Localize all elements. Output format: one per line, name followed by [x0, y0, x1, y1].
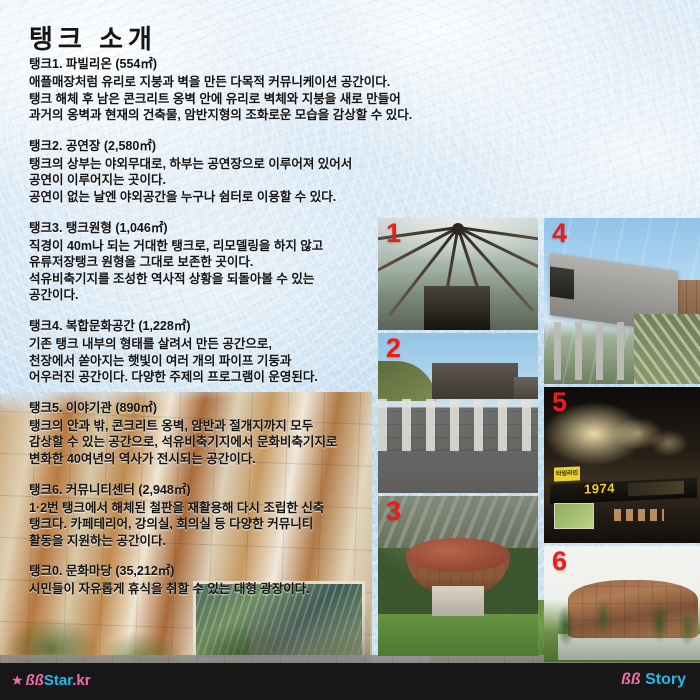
photo-5-site-map: [554, 503, 594, 529]
tank-line: 기존 탱크 내부의 형태를 살려서 만든 공간으로,: [29, 336, 381, 353]
photo-1-pavilion[interactable]: 1: [378, 218, 538, 330]
photo-3-tank-roof: [406, 538, 510, 572]
brand-bb-text: ßß: [26, 672, 44, 689]
photo-5-story-hall[interactable]: 타임라인 1974 5: [544, 387, 700, 543]
tank-heading: 탱크3. 탱크원형 (1,046㎡): [29, 220, 381, 237]
tank-heading: 탱크5. 이야기관 (890㎡): [29, 400, 381, 417]
photo-number-label: 1: [386, 220, 401, 247]
photo-4-cultural-complex[interactable]: 4: [544, 218, 700, 384]
tank-block-6: 탱크6. 커뮤니티센터 (2,948㎡) 1·2번 탱크에서 해체된 철판을 재…: [29, 482, 381, 550]
photo-6-community-center[interactable]: 6: [544, 546, 700, 662]
tank-line: 과거의 옹벽과 현재의 건축물, 암반지형의 조화로운 모습을 감상할 수 있다…: [29, 107, 381, 124]
tank-line: 천장에서 쏟아지는 햇빛이 여러 개의 파이프 기둥과: [29, 353, 381, 370]
photo-2-stage-wall: [432, 363, 518, 399]
photo-number-label: 5: [552, 389, 567, 416]
photo-4-rock-scree: [634, 314, 700, 384]
tank-heading: 탱크1. 파빌리온 (554㎡): [29, 56, 381, 73]
photo-3-lawn: [378, 614, 538, 656]
photo-5-info-panel: [628, 481, 684, 496]
photo-4-beam-opening: [550, 266, 574, 299]
tank-line: 공연이 이루어지는 곳이다.: [29, 172, 381, 189]
tank-line: 탱크다. 카페테리어, 강의실, 회의실 등 다양한 커뮤니티: [29, 516, 381, 533]
tank-heading: 탱크2. 공연장 (2,580㎡): [29, 138, 381, 155]
photo-5-photo-thumbnails: [614, 509, 664, 521]
tank-block-2: 탱크2. 공연장 (2,580㎡) 탱크의 상부는 야외무대로, 하부는 공연장…: [29, 138, 381, 206]
page-root: 탱크 소개 탱크1. 파빌리온 (554㎡) 애플매장처럼 유리로 지붕과 벽을…: [0, 0, 700, 700]
photo-1-hub: [452, 223, 464, 235]
photo-2-stone-seats: [378, 399, 538, 451]
tank-line: 변화한 40여년의 역사가 전시되는 공간이다.: [29, 451, 381, 468]
tank-line: 감상할 수 있는 공간으로, 석유비축기지에서 문화비축기지로: [29, 434, 381, 451]
tank-heading: 탱크6. 커뮤니티센터 (2,948㎡): [29, 482, 381, 499]
tank-block-4: 탱크4. 복합문화공간 (1,228㎡) 기존 탱크 내부의 형태를 살려서 만…: [29, 318, 381, 386]
tank-block-1: 탱크1. 파빌리온 (554㎡) 애플매장처럼 유리로 지붕과 벽을 만든 다목…: [29, 56, 381, 124]
page-title: 탱크 소개: [29, 19, 157, 56]
brand-logo-left[interactable]: ★ßßStar.kr: [11, 672, 91, 689]
photo-3-entrance-ramp: [432, 586, 484, 616]
tank-block-5: 탱크5. 이야기관 (890㎡) 탱크의 안과 밖, 콘크리트 옹벽, 암반과 …: [29, 400, 381, 468]
photo-2-hillside: [378, 361, 436, 401]
tank-description-column: 탱크1. 파빌리온 (554㎡) 애플매장처럼 유리로 지붕과 벽을 만든 다목…: [29, 56, 381, 612]
photo-number-label: 2: [386, 335, 401, 362]
brand-logo-right[interactable]: ßß Story: [621, 671, 686, 689]
photo-2-side-wall: [514, 377, 538, 399]
tank-line: 석유비축기지를 조성한 역사적 상황을 되돌아볼 수 있는: [29, 271, 381, 288]
footer-bar: ★ßßStar.kr ßß Story: [0, 663, 700, 700]
tank-line: 활동을 지원하는 공간이다.: [29, 533, 381, 550]
tank-block-3: 탱크3. 탱크원형 (1,046㎡) 직경이 40m나 되는 거대한 탱크로, …: [29, 220, 381, 304]
tank-heading: 탱크0. 문화마당 (35,212㎡): [29, 563, 381, 580]
photo-2-performance-hall[interactable]: 2: [378, 333, 538, 493]
photo-number-label: 4: [552, 220, 567, 247]
tank-line: 직경이 40m나 되는 거대한 탱크로, 리모델링을 하지 않고: [29, 238, 381, 255]
tank-heading: 탱크4. 복합문화공간 (1,228㎡): [29, 318, 381, 335]
tank-block-0: 탱크0. 문화마당 (35,212㎡) 시민들이 자유롭게 휴식을 취할 수 있…: [29, 563, 381, 598]
photo-number-label: 6: [552, 548, 567, 575]
photo-5-year-label: 1974: [584, 480, 615, 496]
star-icon: ★: [11, 672, 24, 688]
tank-line: 애플매장처럼 유리로 지붕과 벽을 만든 다목적 커뮤니케이션 공간이다.: [29, 74, 381, 91]
photo-number-label: 3: [386, 498, 401, 525]
tank-line: 1·2번 탱크에서 해체된 철판을 재활용해 다시 조립한 신축: [29, 500, 381, 517]
brand-word-text: Story: [645, 671, 686, 688]
tank-line: 어우러진 공간이다. 다양한 주제의 프로그램이 운영된다.: [29, 369, 381, 386]
photo-5-timeline-sign: 타임라인: [554, 466, 580, 481]
tank-line: 유류저장탱크 원형을 그대로 보존한 곳이다.: [29, 254, 381, 271]
tank-line: 탱크 해체 후 남은 콘크리트 옹벽 안에 유리로 벽체와 지붕을 새로 만들어: [29, 91, 381, 108]
tank-line: 공연이 없는 날엔 야외공간을 누구나 쉼터로 이용할 수 있다.: [29, 189, 381, 206]
tank-line: 시민들이 자유롭게 휴식을 취할 수 있는 대형 광장이다.: [29, 581, 381, 598]
tank-line: 공간이다.: [29, 287, 381, 304]
brand-bb-text: ßß: [621, 671, 641, 688]
tank-line: 탱크의 안과 밖, 콘크리트 옹벽, 암반과 절개지까지 모두: [29, 418, 381, 435]
tank-line: 탱크의 상부는 야외무대로, 하부는 공연장으로 이루어져 있어서: [29, 156, 381, 173]
photo-1-entrance: [424, 286, 490, 330]
photo-6-trees: [544, 566, 700, 662]
brand-tld-text: .kr: [72, 672, 90, 689]
photo-3-original-tank[interactable]: 3: [378, 496, 538, 656]
brand-word-text: Star: [44, 672, 72, 689]
